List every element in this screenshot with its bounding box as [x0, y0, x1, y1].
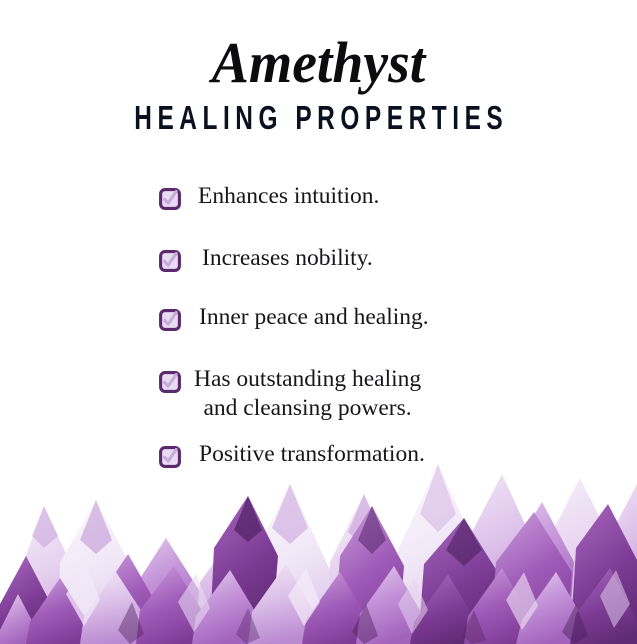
- list-item-label: Enhances intuition.: [198, 182, 379, 211]
- page-subtitle: HEALING PROPERTIES: [83, 92, 554, 134]
- checkbox-checked-icon: [159, 250, 181, 272]
- list-item: Increases nobility.: [0, 244, 637, 273]
- amethyst-healing-properties-poster: Amethyst HEALING PROPERTIES Enhances int…: [0, 0, 637, 644]
- list-item: Enhances intuition.: [0, 182, 637, 211]
- poster-header: Amethyst HEALING PROPERTIES: [0, 0, 637, 134]
- checkbox-checked-icon: [159, 188, 181, 210]
- amethyst-crystal-cluster-photo: [0, 444, 637, 644]
- list-item-label: Has outstanding healing and cleansing po…: [194, 365, 421, 423]
- checkbox-checked-icon: [159, 371, 181, 393]
- healing-properties-list: Enhances intuition. Increases nobility. …: [0, 182, 637, 469]
- checkbox-checked-icon: [159, 309, 181, 331]
- list-item-label: Inner peace and healing.: [199, 303, 429, 332]
- list-item: Has outstanding healing and cleansing po…: [0, 365, 637, 423]
- list-item: Inner peace and healing.: [0, 303, 637, 332]
- list-item-label: Increases nobility.: [202, 244, 373, 273]
- page-title: Amethyst: [13, 0, 625, 92]
